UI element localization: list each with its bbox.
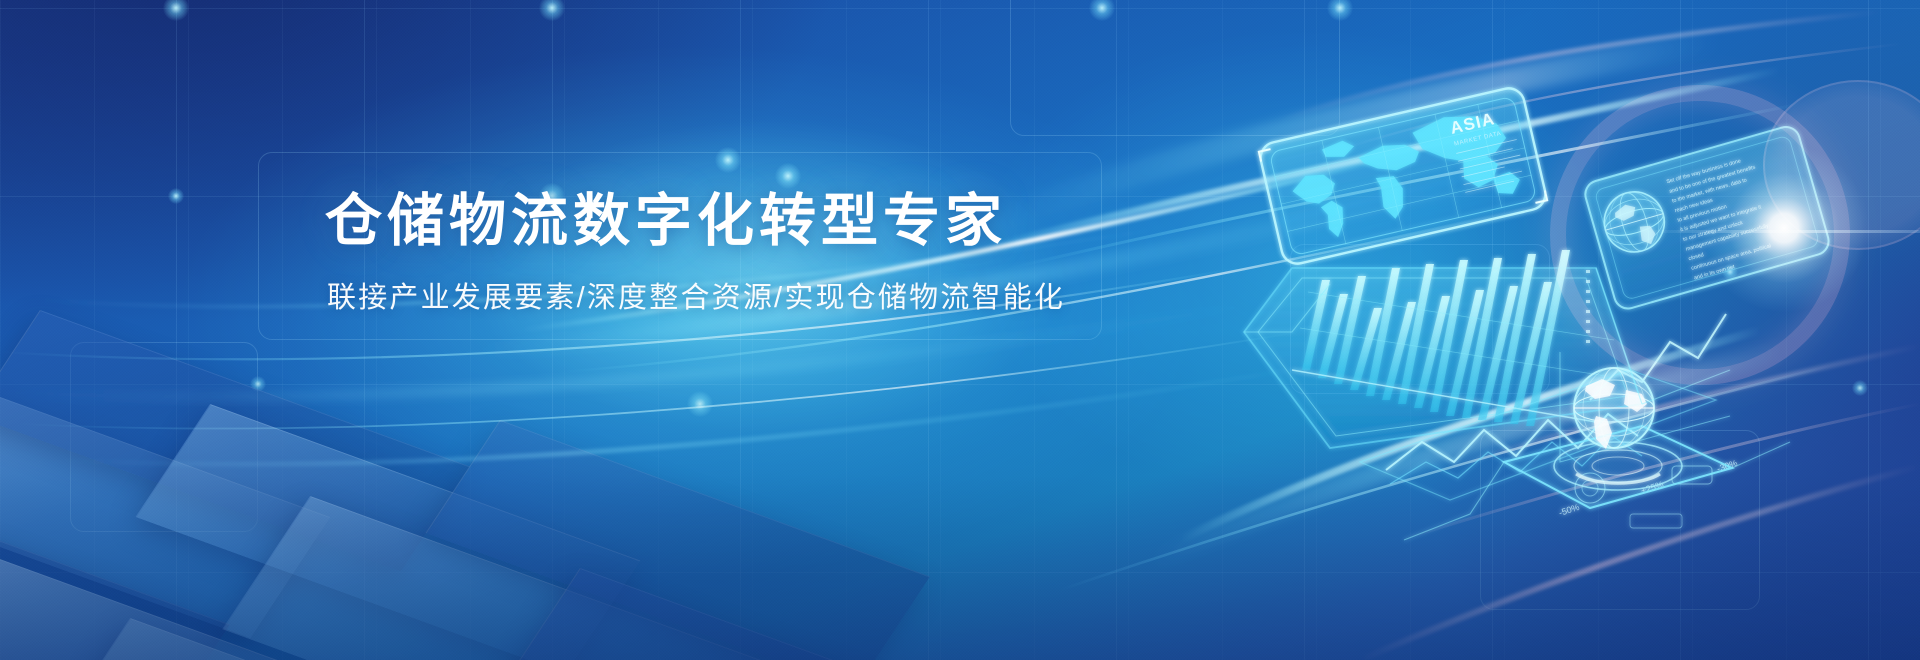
banner-copy: 仓储物流数字化转型专家 联接产业发展要素/深度整合资源/实现仓储物流智能化 [325, 190, 1085, 318]
isometric-floor-slabs [0, 300, 1030, 660]
hero-banner: ASIA MARKET DATA [0, 0, 1920, 660]
grid-node [715, 147, 741, 173]
line-label-0: -50% [1558, 502, 1581, 518]
grid-node [163, 0, 189, 21]
grid-node [168, 188, 184, 204]
grid-node [775, 163, 801, 189]
wireframe-globe-lower [1574, 368, 1654, 449]
world-map-panel: ASIA MARKET DATA [1258, 85, 1549, 267]
banner-headline: 仓储物流数字化转型专家 [325, 190, 1085, 254]
lens-flare-core [1699, 143, 1869, 313]
banner-subheadline: 联接产业发展要素/深度整合资源/实现仓储物流智能化 [327, 280, 1085, 318]
grid-node [1327, 0, 1353, 21]
grid-node [539, 0, 565, 21]
